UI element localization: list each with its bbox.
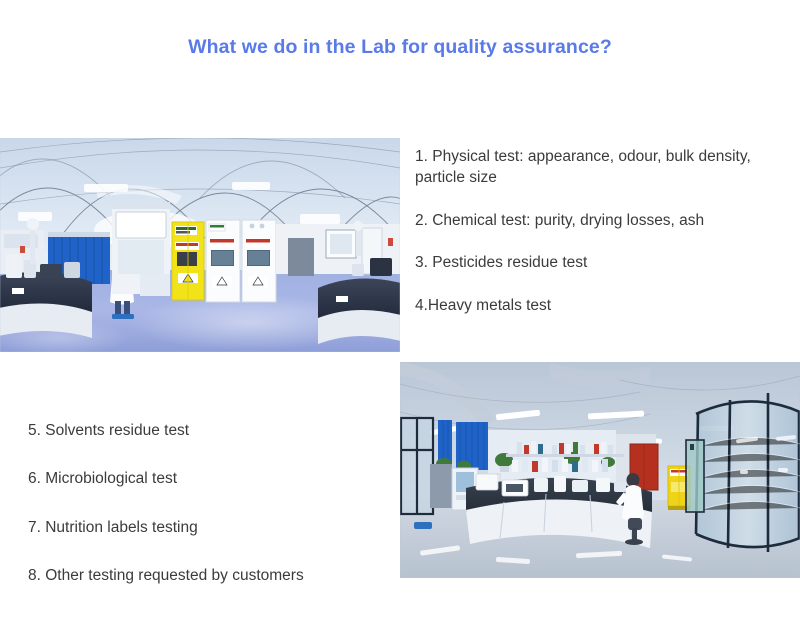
list-item: 7. Nutrition labels testing <box>28 517 388 538</box>
list-item: 2. Chemical test: purity, drying losses,… <box>415 210 800 231</box>
lab-panorama-bottom-right <box>400 362 800 578</box>
test-list-right: 1. Physical test: appearance, odour, bul… <box>415 146 800 316</box>
list-item: 1. Physical test: appearance, odour, bul… <box>415 146 800 189</box>
list-item: 5. Solvents residue test <box>28 420 388 441</box>
list-item: 4.Heavy metals test <box>415 295 800 316</box>
list-item: 3. Pesticides residue test <box>415 252 800 273</box>
page-title: What we do in the Lab for quality assura… <box>0 36 800 59</box>
list-item: 8. Other testing requested by customers <box>28 565 388 586</box>
list-item: 6. Microbiological test <box>28 468 388 489</box>
test-list-left: 5. Solvents residue test 6. Microbiologi… <box>28 420 388 587</box>
lab-panorama-top-left <box>0 138 400 352</box>
slide-canvas: What we do in the Lab for quality assura… <box>0 0 800 636</box>
